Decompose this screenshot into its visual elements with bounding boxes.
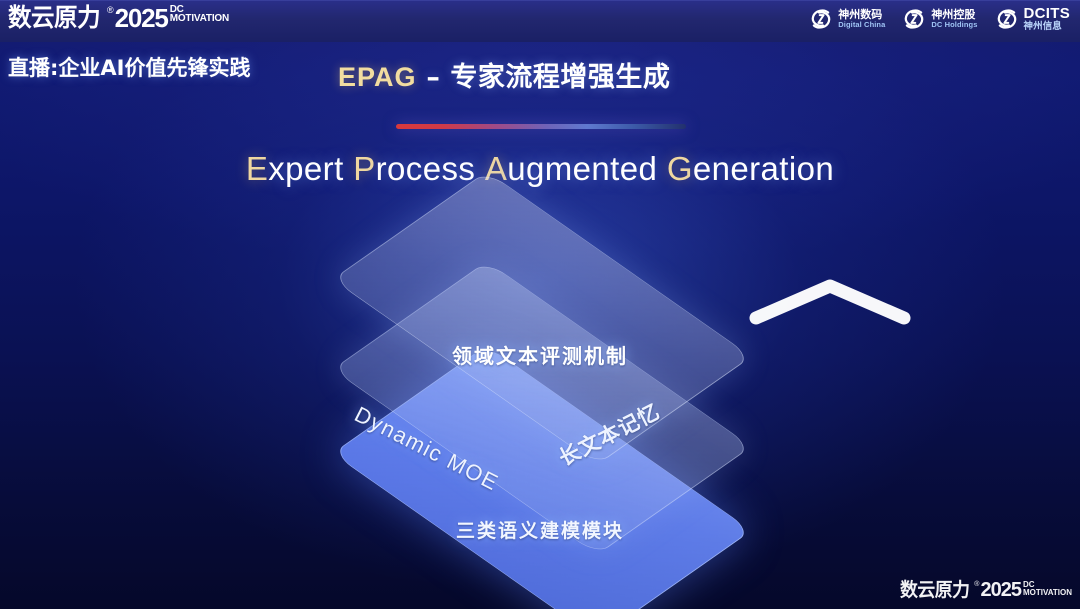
partner-name-en: Digital China xyxy=(838,21,885,29)
swirl-logo-icon xyxy=(994,6,1020,32)
page-title: EPAG – 专家流程增强生成 xyxy=(338,55,670,94)
gradient-divider xyxy=(396,124,686,129)
footer-brand-name-cn: 数云原力 xyxy=(900,579,970,601)
brand-name-cn: 数云原力 xyxy=(8,3,100,33)
stack-layer-bottom-label: 三类语义建模模块 xyxy=(290,516,790,543)
title-acronym: EPAG xyxy=(338,62,417,92)
partner-logo-digital-china: 神州数码 Digital China xyxy=(808,4,885,34)
chevron-up-icon xyxy=(746,274,914,328)
brand-logo: 数云原力 ® 2025 DC MOTIVATION xyxy=(8,3,229,37)
brand-tagline: DC MOTIVATION xyxy=(170,5,229,23)
footer-brand-tagline: DC MOTIVATION xyxy=(1023,581,1072,597)
subtitle-cap-p: P xyxy=(353,150,375,187)
subtitle-rest-expert: xpert xyxy=(268,150,343,187)
partner-name-en: 神州信息 xyxy=(1024,22,1071,32)
partner-logo-dc-holdings: 神州控股 DC Holdings xyxy=(901,4,977,34)
partner-logo-group: 神州数码 Digital China 神州控股 DC Holdings xyxy=(808,4,1070,34)
partner-name-en: DC Holdings xyxy=(931,21,977,29)
swirl-logo-icon xyxy=(808,6,834,32)
layered-stack-diagram: 领域文本评测机制 Dynamic MOE 长文本记忆 三类语义建模模块 xyxy=(290,222,790,582)
partner-name-cn: DCITS xyxy=(1024,6,1071,22)
brand-year: 2025 xyxy=(115,3,168,33)
stack-layer-top-label: 领域文本评测机制 xyxy=(290,340,790,369)
subtitle-rest-process: rocess xyxy=(376,150,476,187)
english-subtitle: Expert Process Augmented Generation xyxy=(0,150,1080,188)
brand-motivation-label: MOTIVATION xyxy=(170,14,229,23)
presentation-slide: 数云原力 ® 2025 DC MOTIVATION 神州数码 Di xyxy=(0,0,1080,609)
swirl-logo-icon xyxy=(901,6,927,32)
partner-text: DCITS 神州信息 xyxy=(1024,6,1071,32)
partner-text: 神州控股 DC Holdings xyxy=(931,9,977,28)
header-bar: 数云原力 ® 2025 DC MOTIVATION 神州数码 Di xyxy=(0,0,1080,42)
subtitle-rest-augmented: ugmented xyxy=(507,150,657,187)
live-broadcast-subtitle: 直播:企业AI价值先锋实践 xyxy=(8,52,250,82)
partner-text: 神州数码 Digital China xyxy=(838,9,885,28)
brand-registered-mark: ® xyxy=(107,3,114,17)
footer-brand-year: 2025 xyxy=(980,579,1021,601)
footer-registered-mark: ® xyxy=(974,579,979,590)
subtitle-cap-e: E xyxy=(246,150,268,187)
footer-brand-watermark: 数云原力 ® 2025 DC MOTIVATION xyxy=(900,579,1072,605)
footer-motivation-label: MOTIVATION xyxy=(1023,589,1072,597)
subtitle-cap-g: G xyxy=(667,150,693,187)
partner-logo-dcits: DCITS 神州信息 xyxy=(994,4,1071,34)
title-chinese: – 专家流程增强生成 xyxy=(417,62,671,93)
subtitle-rest-generation: eneration xyxy=(693,150,834,187)
